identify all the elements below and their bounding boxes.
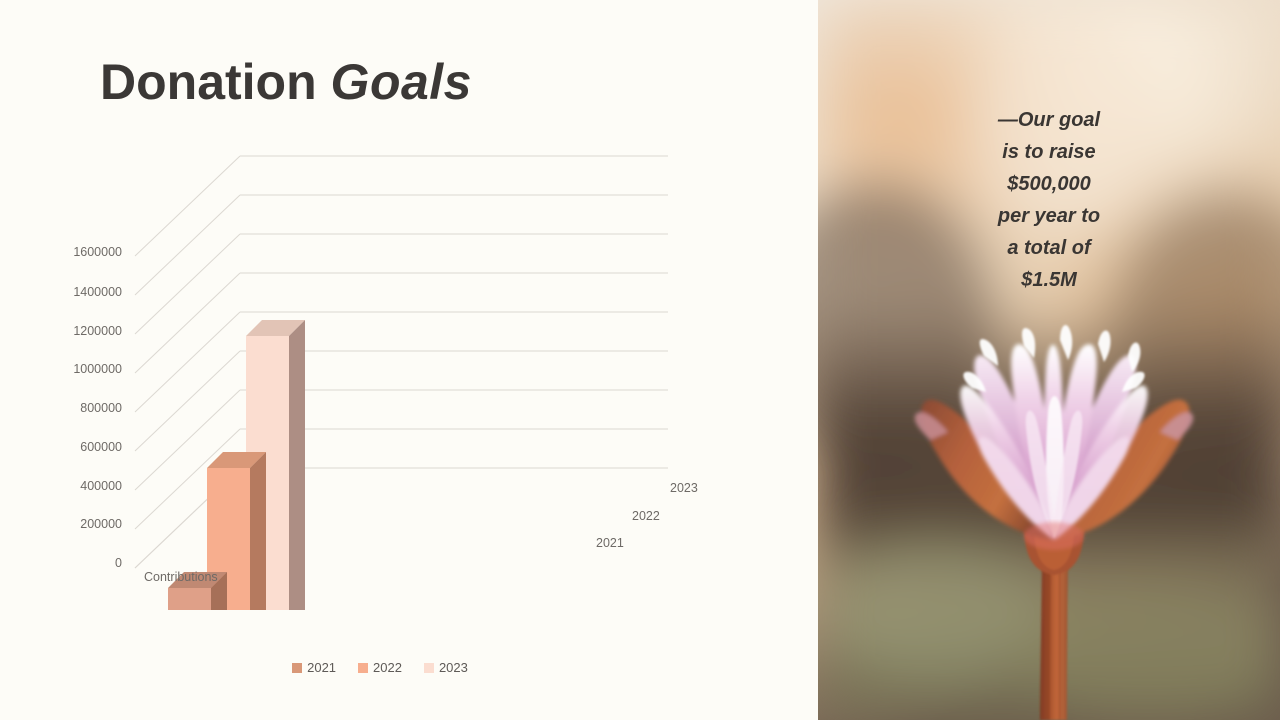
flower-stem bbox=[1040, 560, 1068, 720]
legend-swatch-icon bbox=[358, 663, 368, 673]
page-title: Donation Goals bbox=[100, 50, 700, 114]
legend-swatch-icon bbox=[424, 663, 434, 673]
legend-label: 2022 bbox=[373, 660, 402, 675]
legend-item-2023[interactable]: 2023 bbox=[424, 660, 468, 675]
title-word-donation: Donation bbox=[100, 54, 317, 110]
chart-legend: 2021 2022 2023 bbox=[0, 660, 760, 675]
depth-axis-label-2022: 2022 bbox=[632, 509, 660, 523]
chart-panel: Donation Goals 1600000 1400000 1200000 1… bbox=[0, 0, 818, 720]
quote-text: —Our goal is to raise $500,000 per year … bbox=[818, 104, 1280, 296]
bar-2021-front bbox=[168, 588, 211, 610]
donation-goals-chart[interactable]: 1600000 1400000 1200000 1000000 800000 6… bbox=[0, 140, 818, 700]
legend-label: 2023 bbox=[439, 660, 468, 675]
chart-svg bbox=[0, 140, 760, 610]
photo-panel: —Our goal is to raise $500,000 per year … bbox=[818, 0, 1280, 720]
plot-area bbox=[0, 140, 760, 610]
title-word-goals: Goals bbox=[331, 54, 472, 110]
legend-swatch-icon bbox=[292, 663, 302, 673]
depth-axis-label-2023: 2023 bbox=[670, 481, 698, 495]
category-label-contributions: Contributions bbox=[144, 570, 218, 584]
legend-item-2022[interactable]: 2022 bbox=[358, 660, 402, 675]
bar-2022-side bbox=[250, 452, 266, 610]
slide: Donation Goals 1600000 1400000 1200000 1… bbox=[0, 0, 1280, 720]
legend-item-2021[interactable]: 2021 bbox=[292, 660, 336, 675]
bar-2023-side bbox=[289, 320, 305, 610]
flower-center-glow bbox=[1024, 522, 1084, 550]
legend-label: 2021 bbox=[307, 660, 336, 675]
depth-axis-label-2021: 2021 bbox=[596, 536, 624, 550]
